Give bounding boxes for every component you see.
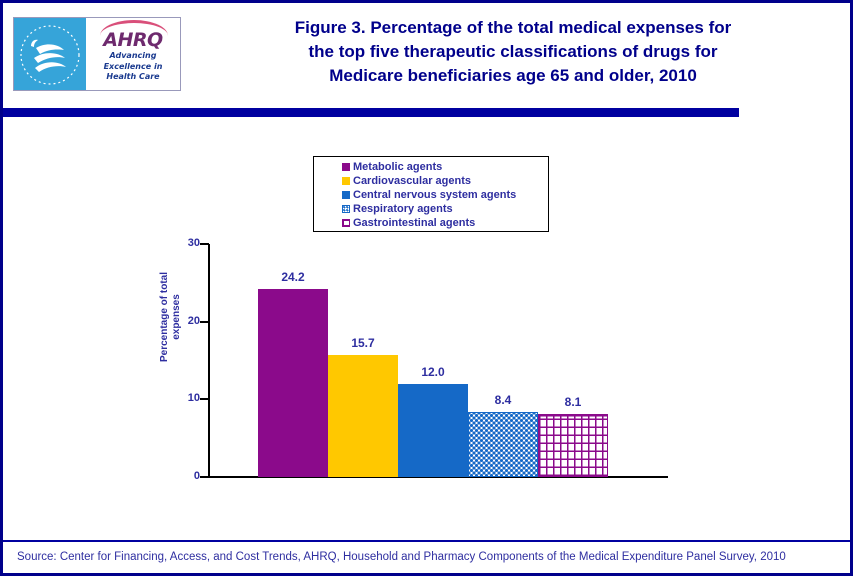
- y-axis-tick-label-wrap: 20: [153, 315, 200, 327]
- figure-page: AHRQ Advancing Excellence in Health Care…: [0, 0, 853, 576]
- bar-group: 12.0: [398, 244, 468, 477]
- footer-divider: [3, 540, 850, 542]
- bar-series: 24.215.712.08.48.1: [258, 244, 608, 477]
- bar-group: 8.4: [468, 244, 538, 477]
- bar-value-label: 24.2: [258, 270, 328, 284]
- source-note: Source: Center for Financing, Access, an…: [17, 551, 842, 563]
- ahrq-wordmark: AHRQ Advancing Excellence in Health Care: [86, 18, 180, 90]
- plot-area: Percentage of total expenses 0102030 24.…: [3, 119, 850, 539]
- ahrq-tagline-line3: Health Care: [86, 72, 180, 82]
- bar-group: 8.1: [538, 244, 608, 477]
- page-title: Figure 3. Percentage of the total medica…: [193, 16, 833, 88]
- y-axis-tick-label-wrap: 0: [153, 470, 200, 482]
- figure-header: AHRQ Advancing Excellence in Health Care…: [3, 3, 850, 104]
- y-axis-line: [208, 244, 210, 478]
- ahrq-tagline-line2: Excellence in: [86, 62, 180, 72]
- bar: [258, 289, 328, 477]
- bar: [328, 355, 398, 477]
- ahrq-tagline-line1: Advancing: [86, 51, 180, 61]
- page-title-line-3: Medicare beneficiaries age 65 and older,…: [193, 64, 833, 88]
- ahrq-logo: AHRQ Advancing Excellence in Health Care: [13, 17, 181, 91]
- page-title-line-2: the top five therapeutic classifications…: [193, 40, 833, 64]
- y-axis-tick: [200, 476, 209, 478]
- y-axis-tick-label-wrap: 30: [153, 237, 200, 249]
- y-axis-tick-label: 20: [160, 315, 200, 327]
- ahrq-arc-icon: [100, 20, 168, 39]
- chart-container: Metabolic agentsCardiovascular agentsCen…: [3, 119, 850, 539]
- bar-group: 15.7: [328, 244, 398, 477]
- page-title-line-1: Figure 3. Percentage of the total medica…: [193, 16, 833, 40]
- y-axis-tick-label: 10: [160, 392, 200, 404]
- bar: [468, 412, 538, 477]
- y-axis-tick: [200, 321, 209, 323]
- y-axis-tick: [200, 398, 209, 400]
- bar-value-label: 12.0: [398, 365, 468, 379]
- y-axis-tick-label-wrap: 10: [153, 392, 200, 404]
- bar-value-label: 8.4: [468, 393, 538, 407]
- hhs-seal-icon: [14, 18, 86, 90]
- header-divider: [3, 108, 739, 117]
- bar-value-label: 8.1: [538, 395, 608, 409]
- y-axis-tick-label: 0: [160, 470, 200, 482]
- bar-group: 24.2: [258, 244, 328, 477]
- bar-value-label: 15.7: [328, 336, 398, 350]
- y-axis-tick: [200, 243, 209, 245]
- bar: [398, 384, 468, 477]
- y-axis-tick-label: 30: [160, 237, 200, 249]
- bar: [538, 414, 608, 477]
